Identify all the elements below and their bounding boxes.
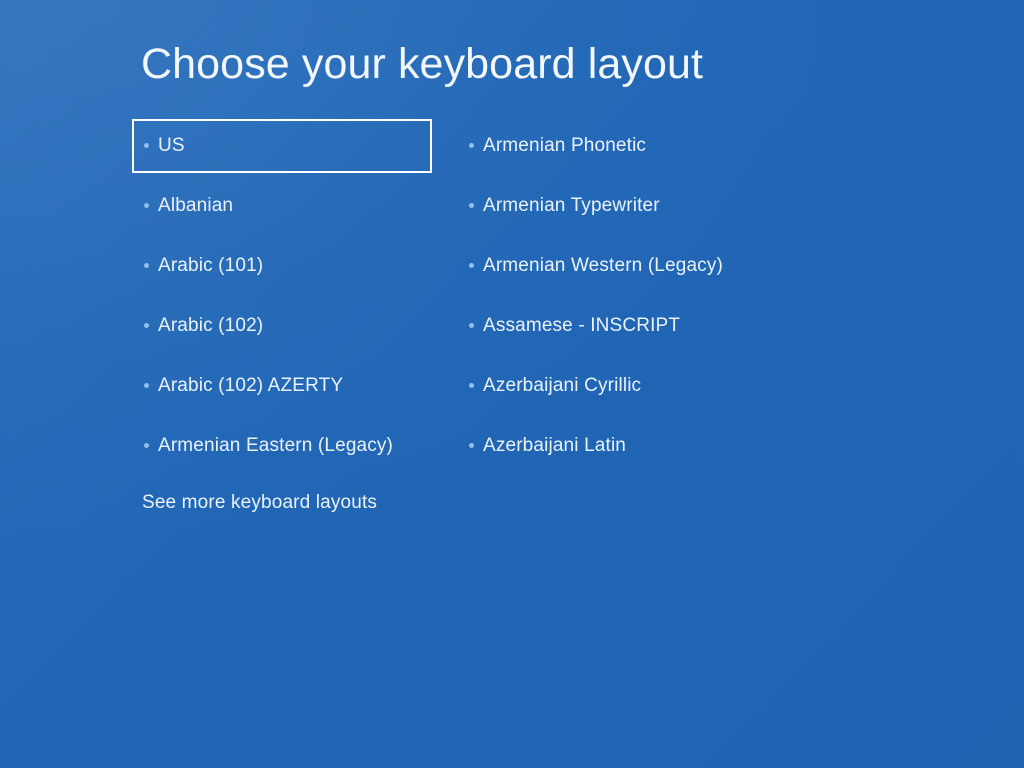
bullet-icon [469, 263, 474, 268]
bullet-icon [144, 143, 149, 148]
bullet-icon [469, 383, 474, 388]
keyboard-layout-item[interactable]: Armenian Typewriter [457, 179, 787, 233]
keyboard-layout-label: Armenian Western (Legacy) [483, 255, 723, 277]
see-more-keyboard-layouts-link[interactable]: See more keyboard layouts [142, 492, 377, 514]
bullet-icon [469, 323, 474, 328]
keyboard-layout-item[interactable]: Azerbaijani Cyrillic [457, 359, 787, 413]
bullet-icon [469, 443, 474, 448]
keyboard-layout-item[interactable]: Armenian Western (Legacy) [457, 239, 787, 293]
keyboard-layout-label: Azerbaijani Cyrillic [483, 375, 641, 397]
keyboard-layout-item[interactable]: Azerbaijani Latin [457, 419, 787, 473]
keyboard-layout-label: Albanian [158, 195, 233, 217]
keyboard-layout-item[interactable]: Armenian Phonetic [457, 119, 787, 173]
keyboard-layout-label: Armenian Eastern (Legacy) [158, 435, 393, 457]
keyboard-layout-label: Arabic (102) [158, 315, 263, 337]
keyboard-layout-item[interactable]: Arabic (102) AZERTY [132, 359, 432, 413]
keyboard-layout-label: Armenian Phonetic [483, 135, 646, 157]
keyboard-layout-item[interactable]: Assamese - INSCRIPT [457, 299, 787, 353]
keyboard-layout-label: Arabic (102) AZERTY [158, 375, 343, 397]
keyboard-layout-label: Azerbaijani Latin [483, 435, 626, 457]
keyboard-layout-label: US [158, 135, 185, 157]
bullet-icon [144, 323, 149, 328]
bullet-icon [469, 203, 474, 208]
keyboard-layout-label: Armenian Typewriter [483, 195, 660, 217]
keyboard-layout-list-right: Armenian PhoneticArmenian TypewriterArme… [457, 119, 787, 479]
keyboard-layout-item[interactable]: US [132, 119, 432, 173]
bullet-icon [144, 383, 149, 388]
bullet-icon [144, 203, 149, 208]
keyboard-layout-item[interactable]: Arabic (102) [132, 299, 432, 353]
keyboard-layout-item[interactable]: Arabic (101) [132, 239, 432, 293]
keyboard-layout-screen: Choose your keyboard layout USAlbanianAr… [0, 0, 1024, 768]
keyboard-layout-item[interactable]: Albanian [132, 179, 432, 233]
keyboard-layout-item[interactable]: Armenian Eastern (Legacy) [132, 419, 432, 473]
page-title: Choose your keyboard layout [141, 38, 703, 90]
bullet-icon [469, 143, 474, 148]
bullet-icon [144, 443, 149, 448]
bullet-icon [144, 263, 149, 268]
keyboard-layout-label: Arabic (101) [158, 255, 263, 277]
keyboard-layout-label: Assamese - INSCRIPT [483, 315, 680, 337]
keyboard-layout-list-left: USAlbanianArabic (101)Arabic (102)Arabic… [132, 119, 432, 479]
